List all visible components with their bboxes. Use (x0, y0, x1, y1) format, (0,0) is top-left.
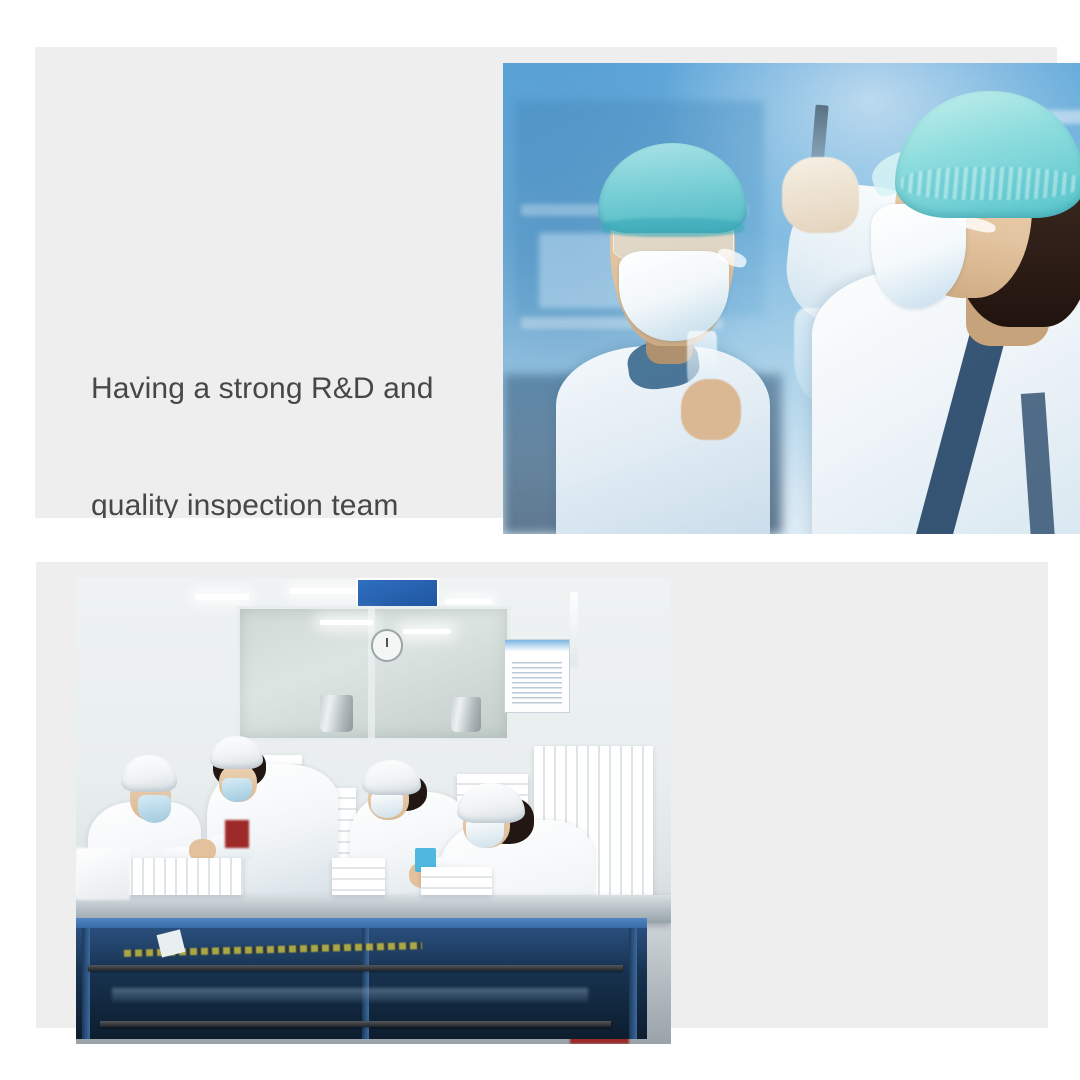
lab-inspection-photo (503, 63, 1080, 534)
interior-light-1 (320, 620, 374, 625)
lab-worker-b-glove (782, 157, 859, 232)
warehouse-worker-1-mask (138, 795, 171, 823)
interior-light-2 (403, 629, 451, 634)
warehouse-packing-photo (76, 578, 671, 1044)
notice-board-text (512, 662, 562, 704)
lab-worker-a-hairnet-band (601, 218, 744, 237)
undershelf-bar-upper (88, 965, 624, 971)
lab-worker-b-hairnet-ruffle (901, 167, 1079, 200)
worktable-leg-left (82, 928, 90, 1040)
undershelf-bar-lower (100, 1021, 612, 1027)
carton-front-center (332, 858, 386, 895)
rd-quality-caption: Having a strong R&D and quality inspecti… (91, 291, 491, 518)
white-wrap-foreground (76, 848, 130, 899)
worktable-leg-right (629, 928, 637, 1040)
stainless-pot-1 (320, 695, 353, 732)
carton-front-right (421, 867, 492, 895)
caption-line-1: Having a strong R&D and (91, 369, 491, 408)
ceiling-light-3 (445, 599, 493, 604)
window-mullion (368, 606, 375, 741)
lab-worker-a-hand (681, 379, 740, 440)
blue-wall-sign (356, 578, 439, 608)
caption-line-2: quality inspection team (91, 486, 491, 518)
warehouse-worker-2-mask (222, 778, 252, 801)
wall-clock (371, 629, 404, 662)
warehouse-worker-2-red-accent (225, 820, 249, 848)
floor-reflection (112, 988, 588, 1002)
ceiling-light-2 (290, 588, 355, 594)
warehouse-worker-3-mask (371, 792, 404, 818)
slide-canvas: Having a strong R&D and quality inspecti… (0, 0, 1080, 1080)
stainless-pot-2 (451, 697, 481, 732)
ceiling-light-1 (195, 594, 249, 600)
hanging-strip-curtain (570, 592, 578, 667)
